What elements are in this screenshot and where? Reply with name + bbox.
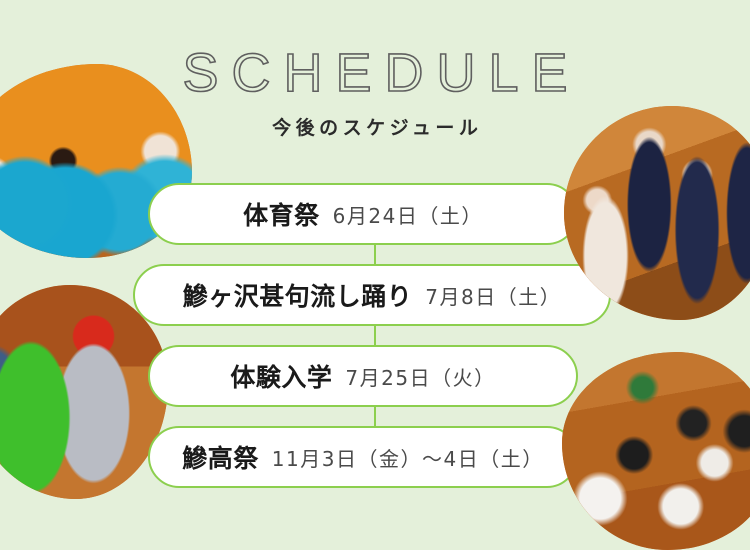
schedule-row[interactable]: 鰺ヶ沢甚句流し踊り 7月8日（土） [133, 264, 611, 326]
photo-top-right [564, 106, 750, 320]
row-connector [374, 245, 376, 264]
schedule-row[interactable]: 体育祭 6月24日（土） [148, 183, 578, 245]
photo-top-right-image [564, 106, 750, 320]
schedule-banner: SCHEDULE 今後のスケジュール 体育祭 6月24日（土） 鰺ヶ沢甚句流し踊… [0, 0, 750, 539]
row-connector [374, 407, 376, 426]
event-date: 11月3日（金）〜4日（土） [272, 443, 544, 472]
event-name: 鰺ヶ沢甚句流し踊り [183, 277, 413, 313]
schedule-row[interactable]: 体験入学 7月25日（火） [148, 345, 578, 407]
photo-bottom-right-image [562, 352, 750, 550]
photo-bottom-right [562, 352, 750, 550]
event-date: 7月25日（火） [345, 362, 495, 391]
schedule-row[interactable]: 鰺高祭 11月3日（金）〜4日（土） [148, 426, 578, 488]
row-connector [374, 326, 376, 345]
event-name: 鰺高祭 [182, 439, 259, 475]
event-date: 7月8日（土） [425, 281, 561, 310]
event-date: 6月24日（土） [333, 200, 483, 229]
event-name: 体験入学 [230, 358, 332, 394]
event-name: 体育祭 [243, 196, 320, 232]
